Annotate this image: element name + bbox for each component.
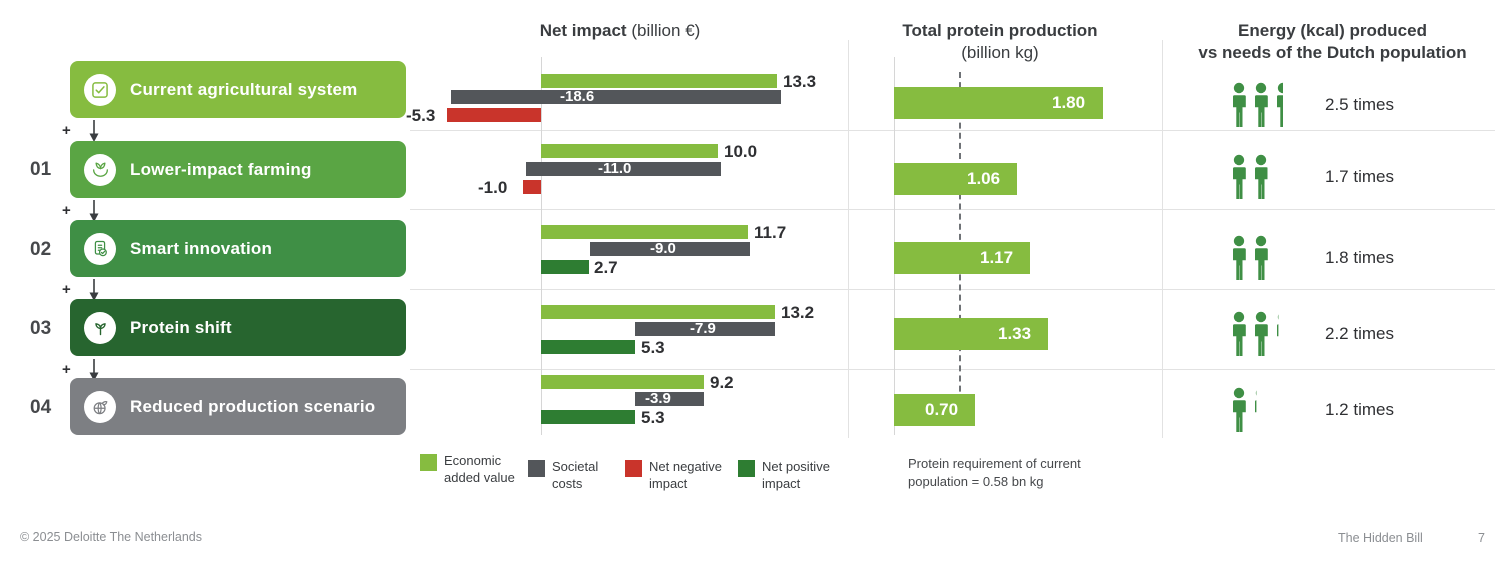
bar-net-positive-impact <box>541 410 635 424</box>
bar-value-label-inner: -18.6 <box>560 90 594 104</box>
bar-value-label: 5.3 <box>641 408 665 428</box>
legend-item-societal-costs: Societal costs <box>528 458 630 492</box>
bar-net-negative-impact <box>447 108 541 122</box>
legend-swatch <box>528 460 545 477</box>
bar-economic-added-value <box>541 375 704 389</box>
energy-value-label: 2.5 times <box>1325 95 1394 115</box>
legend-label: Economic added value <box>444 452 522 486</box>
footer-page-number: 7 <box>1478 531 1485 545</box>
bar-economic-added-value <box>541 305 775 319</box>
bar-net-positive-impact <box>541 340 635 354</box>
person-icon-group <box>1230 82 1300 128</box>
legend-swatch <box>738 460 755 477</box>
bar-value-label-inner: -3.9 <box>645 392 671 406</box>
bar-economic-added-value <box>541 74 777 88</box>
bar-economic-added-value <box>541 144 718 158</box>
bar-value-label-inner: -9.0 <box>650 242 676 256</box>
person-icon-group <box>1230 154 1300 200</box>
legend-label: Net negative impact <box>649 458 727 492</box>
protein-value-label: 1.06 <box>967 163 1000 195</box>
bar-economic-added-value <box>541 225 748 239</box>
legend-swatch <box>625 460 642 477</box>
bar-value-label: 10.0 <box>724 142 757 162</box>
slide-canvas: Net impact (billion €) Total protein pro… <box>0 0 1500 561</box>
protein-value-label: 1.80 <box>1052 87 1085 119</box>
bar-net-positive-impact <box>541 260 589 274</box>
legend-item-economic-added-value: Economic added value <box>420 452 522 486</box>
legend-item-net-positive-impact: Net positive impact <box>738 458 840 492</box>
bar-value-label: 5.3 <box>641 338 665 358</box>
bar-value-label: 9.2 <box>710 373 734 393</box>
bar-value-label-inner: -11.0 <box>598 162 631 176</box>
bar-net-negative-impact <box>523 180 541 194</box>
footer-document-title: The Hidden Bill <box>1338 531 1423 545</box>
energy-value-label: 1.8 times <box>1325 248 1394 268</box>
bar-value-label: 2.7 <box>594 258 618 278</box>
person-icon-group <box>1230 311 1300 357</box>
energy-value-label: 1.7 times <box>1325 167 1394 187</box>
legend-item-net-negative-impact: Net negative impact <box>625 458 727 492</box>
bar-value-label: 11.7 <box>754 223 786 243</box>
bar-value-label: 13.2 <box>781 303 814 323</box>
person-icon-group <box>1230 235 1300 281</box>
bar-value-label-inner: -7.9 <box>690 322 716 336</box>
footer-copyright: © 2025 Deloitte The Netherlands <box>20 530 202 544</box>
protein-requirement-note: Protein requirement of current populatio… <box>908 455 1138 491</box>
legend-label: Net positive impact <box>762 458 840 492</box>
protein-value-label: 1.17 <box>980 242 1013 274</box>
legend-label: Societal costs <box>552 458 630 492</box>
bar-societal-costs <box>451 90 781 104</box>
bar-value-label: -5.3 <box>406 106 435 126</box>
protein-value-label: 1.33 <box>998 318 1031 350</box>
energy-value-label: 1.2 times <box>1325 400 1394 420</box>
energy-value-label: 2.2 times <box>1325 324 1394 344</box>
legend-swatch <box>420 454 437 471</box>
bar-value-label: 13.3 <box>783 72 816 92</box>
protein-value-label: 0.70 <box>925 394 958 426</box>
bar-value-label: -1.0 <box>478 178 507 198</box>
person-icon-group <box>1230 387 1300 433</box>
